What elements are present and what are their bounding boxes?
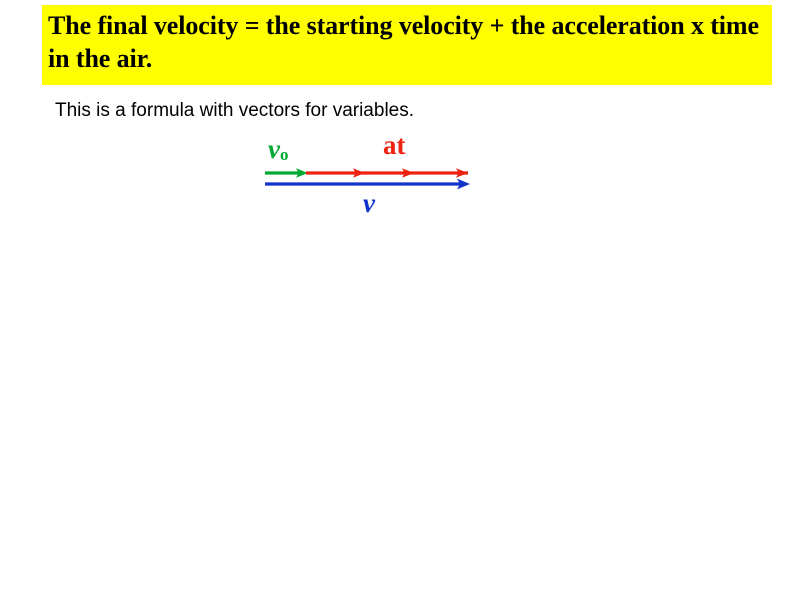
- acceleration-time-label: at: [383, 132, 406, 159]
- initial-velocity-subscript: o: [280, 145, 289, 164]
- initial-velocity-label: vo: [268, 136, 288, 163]
- initial-velocity-arrow: [265, 168, 308, 178]
- page-title: The final velocity = the starting veloci…: [48, 9, 764, 75]
- subtitle-text: This is a formula with vectors for varia…: [55, 100, 414, 122]
- acceleration-time-arrow: [306, 168, 468, 178]
- final-velocity-label: v: [363, 190, 375, 217]
- slide-canvas: The final velocity = the starting veloci…: [0, 0, 800, 600]
- title-banner: The final velocity = the starting veloci…: [42, 5, 772, 85]
- initial-velocity-symbol: v: [268, 134, 280, 164]
- vector-diagram: vo at v: [250, 128, 500, 238]
